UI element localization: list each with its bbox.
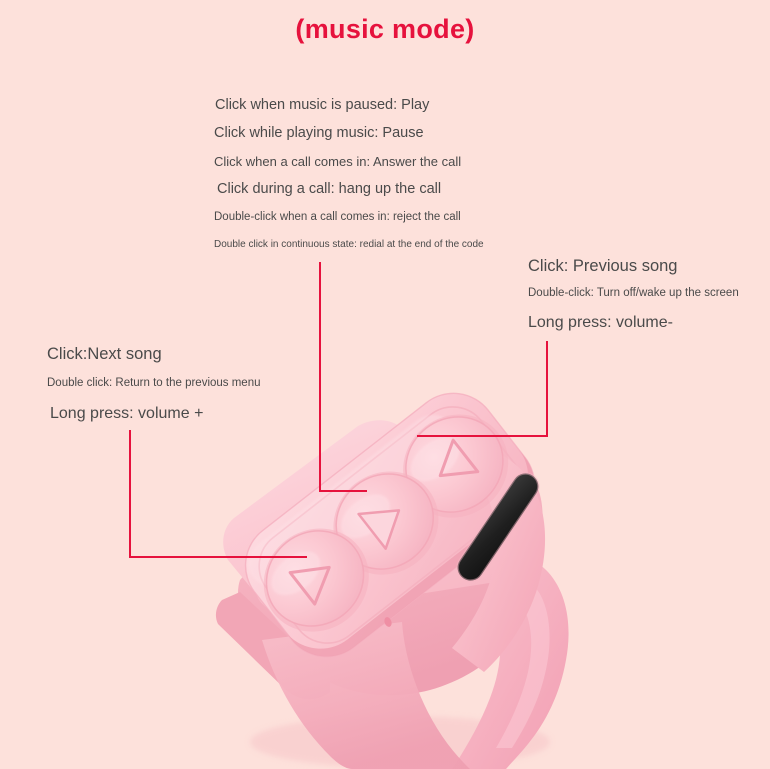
leader-line-left-horizontal [129, 556, 307, 558]
button-group [240, 393, 531, 652]
triangle-left-icon [428, 440, 478, 491]
top-note-answer-call: Click when a call comes in: Answer the c… [214, 154, 461, 169]
triangle-right-icon [290, 552, 341, 604]
top-note-reject-call: Double-click when a call comes in: rejec… [214, 211, 461, 223]
device-slot [453, 468, 544, 585]
top-note-redial: Double click in continuous state: redial… [214, 239, 484, 250]
top-note-pause: Click while playing music: Pause [214, 125, 424, 141]
triangle-middle-icon [359, 493, 413, 549]
finger-ring [452, 553, 569, 769]
top-note-hang-up: Click during a call: hang up the call [217, 181, 441, 197]
page-title: (music mode) [0, 14, 770, 45]
left-note-heading: Click:Next song [47, 345, 162, 364]
previous-song-button[interactable] [382, 393, 529, 538]
illustration-canvas: (music mode) Click when music is paused:… [0, 0, 770, 769]
leader-line-top-vertical [319, 262, 321, 492]
play-pause-button[interactable] [313, 450, 460, 595]
leader-line-right-vertical [546, 341, 548, 437]
next-song-button[interactable] [243, 507, 390, 652]
right-note-long-press: Long press: volume- [528, 314, 673, 332]
left-note-long-press: Long press: volume + [50, 405, 203, 423]
right-note-double-click: Double-click: Turn off/wake up the scree… [528, 287, 739, 299]
leader-line-top-horizontal [319, 490, 367, 492]
pinhole-icon [383, 616, 393, 628]
device-shadow [250, 716, 550, 768]
right-note-heading: Click: Previous song [528, 257, 677, 276]
leader-line-right-horizontal [417, 435, 548, 437]
leader-line-left-vertical [129, 430, 131, 558]
top-note-play: Click when music is paused: Play [215, 97, 429, 113]
left-note-double-click: Double click: Return to the previous men… [47, 377, 261, 389]
